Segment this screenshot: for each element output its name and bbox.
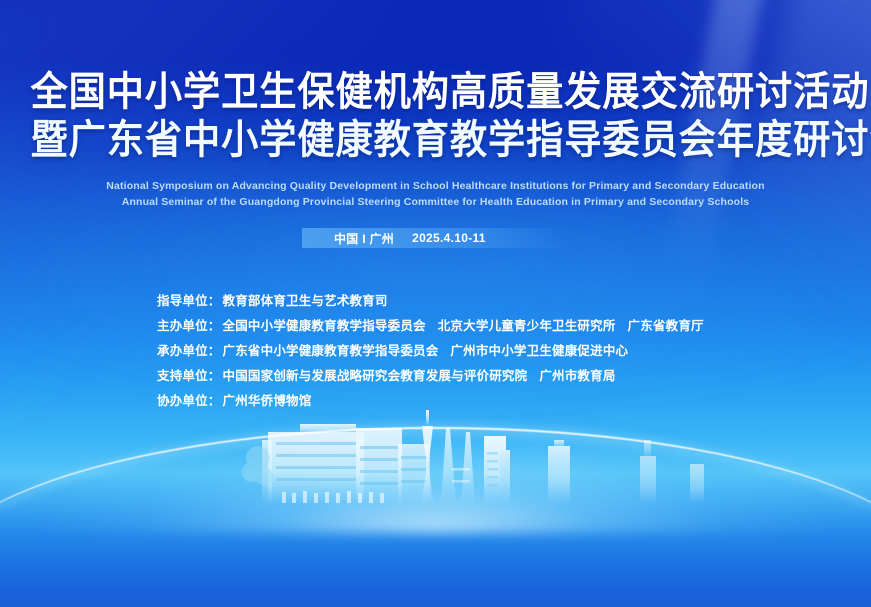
horizon-arc-glow — [0, 426, 871, 583]
organizer-label: 支持单位： — [157, 369, 221, 383]
organizers-list: 指导单位：教育部体育卫生与艺术教育司主办单位：全国中小学健康教育教学指导委员会北… — [157, 289, 716, 414]
poster-title-line-1: 全国中小学卫生保健机构高质量发展交流研讨活动 — [30, 72, 840, 112]
city-skyline — [0, 406, 871, 531]
school-building-icon — [242, 424, 430, 504]
high-rise-right-icon — [690, 464, 704, 504]
organizer-name: 中国国家创新与发展战略研究会教育发展与评价研究院 — [223, 369, 528, 383]
title-block: 全国中小学卫生保健机构高质量发展交流研讨活动 暨广东省中小学健康教育教学指导委员… — [0, 72, 871, 160]
high-rise-left-icon — [640, 440, 656, 504]
organizer-name: 全国中小学健康教育教学指导委员会 — [223, 319, 426, 333]
organizer-name: 北京大学儿童青少年卫生研究所 — [438, 319, 616, 333]
organizer-row: 协办单位：广州华侨博物馆 — [157, 389, 716, 414]
organizer-name: 广东省教育厅 — [628, 319, 704, 333]
twin-spire-tower-icon — [441, 428, 475, 504]
subtitle-block: National Symposium on Advancing Quality … — [0, 178, 871, 211]
ctf-finance-centre-icon — [484, 436, 510, 504]
organizer-name: 广州华侨博物馆 — [223, 394, 312, 408]
subtitle-line-1: National Symposium on Advancing Quality … — [0, 178, 871, 194]
badge-location: 中国 I 广州 — [334, 230, 394, 247]
organizer-row: 指导单位：教育部体育卫生与艺术教育司 — [157, 289, 716, 314]
canton-tower-icon — [421, 410, 434, 504]
organizer-name: 教育部体育卫生与艺术教育司 — [223, 294, 388, 308]
office-tower-icon — [548, 440, 570, 504]
horizon-arc — [0, 427, 871, 579]
subtitle-line-2: Annual Seminar of the Guangdong Provinci… — [0, 194, 871, 210]
organizer-row: 承办单位：广东省中小学健康教育教学指导委员会广州市中小学卫生健康促进中心 — [157, 339, 716, 364]
organizer-label: 主办单位： — [157, 319, 221, 333]
organizer-name: 广东省中小学健康教育教学指导委员会 — [223, 344, 439, 358]
organizer-label: 承办单位： — [157, 344, 221, 358]
organizer-label: 协办单位： — [157, 394, 221, 408]
organizer-name: 广州市中小学卫生健康促进中心 — [450, 344, 628, 358]
organizer-label: 指导单位： — [157, 294, 221, 308]
poster-title-line-2: 暨广东省中小学健康教育教学指导委员会年度研讨活动 — [30, 120, 840, 160]
organizer-row: 支持单位：中国国家创新与发展战略研究会教育发展与评价研究院广州市教育局 — [157, 364, 716, 389]
organizer-row: 主办单位：全国中小学健康教育教学指导委员会北京大学儿童青少年卫生研究所广东省教育… — [157, 314, 716, 339]
badge-date: 2025.4.10-11 — [412, 231, 486, 245]
conference-poster: 全国中小学卫生保健机构高质量发展交流研讨活动 暨广东省中小学健康教育教学指导委员… — [0, 0, 871, 607]
organizer-name: 广州市教育局 — [539, 369, 615, 383]
event-info-badge: 中国 I 广州 2025.4.10-11 — [302, 228, 568, 248]
